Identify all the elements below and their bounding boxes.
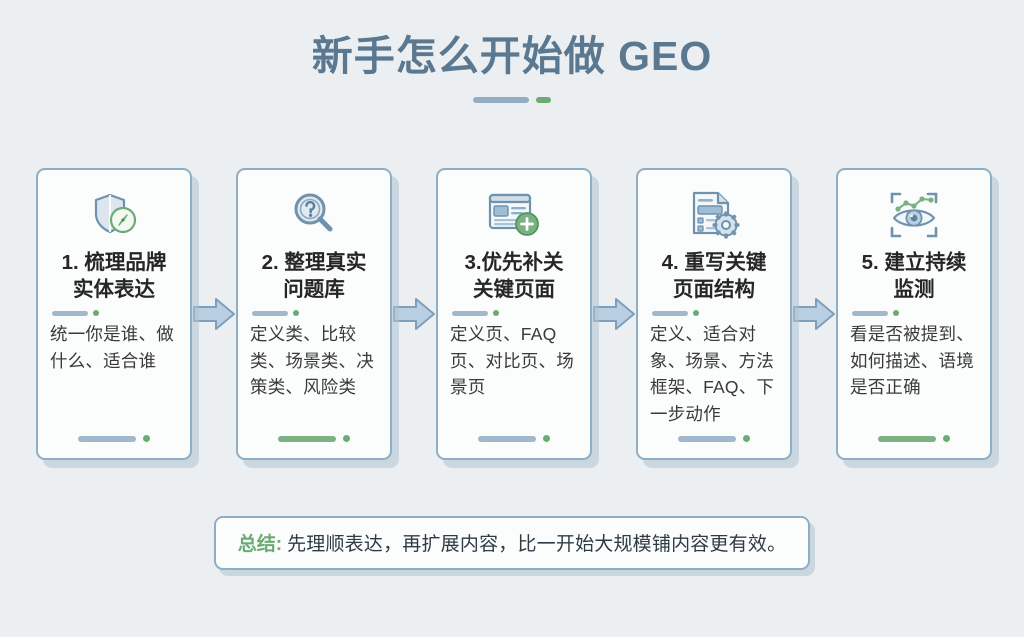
step-card-2[interactable]: 2. 整理真实 问题库 定义类、比较类、场景类、决策类、风险类: [236, 168, 392, 460]
flow-arrow-1: [192, 168, 236, 460]
header: 新手怎么开始做 GEO: [0, 0, 1024, 103]
arrow-right-icon: [192, 296, 236, 332]
step-card-divider: [52, 310, 99, 316]
footer-bar: [678, 436, 736, 442]
step-card-title: 5. 建立持续 监测: [850, 250, 978, 303]
summary-box: 总结: 先理顺表达，再扩展内容，比一开始大规模铺内容更有效。: [214, 516, 811, 570]
divider-bar: [452, 311, 488, 316]
step-card-divider: [852, 310, 899, 316]
flow-arrow-4: [792, 168, 836, 460]
summary-section: 总结: 先理顺表达，再扩展内容，比一开始大规模铺内容更有效。: [0, 516, 1024, 570]
step-card-divider: [252, 310, 299, 316]
divider-bar: [252, 311, 288, 316]
footer-dot: [143, 435, 150, 442]
flow-arrow-2: [392, 168, 436, 460]
divider-bar: [852, 311, 888, 316]
footer-dot: [543, 435, 550, 442]
step-card-divider: [652, 310, 699, 316]
divider-dot: [93, 310, 99, 316]
arrow-right-icon: [592, 296, 636, 332]
document-gear-icon: [686, 184, 742, 246]
step-card-title: 4. 重写关键 页面结构: [650, 250, 778, 303]
title-divider: [0, 97, 1024, 103]
footer-bar: [878, 436, 936, 442]
divider-dot: [493, 310, 499, 316]
step-card-footer: [238, 435, 390, 442]
flow-arrow-3: [592, 168, 636, 460]
summary-text: 先理顺表达，再扩展内容，比一开始大规模铺内容更有效。: [287, 529, 786, 556]
step-card-footer: [438, 435, 590, 442]
step-card-4[interactable]: 4. 重写关键 页面结构 定义、适合对象、场景、方法框架、FAQ、下一步动作: [636, 168, 792, 460]
step-card-footer: [838, 435, 990, 442]
divider-bar: [652, 311, 688, 316]
footer-bar: [278, 436, 336, 442]
step-card-1[interactable]: 1. 梳理品牌 实体表达 统一你是谁、做什么、适合谁: [36, 168, 192, 460]
step-flow: 1. 梳理品牌 实体表达 统一你是谁、做什么、适合谁: [36, 168, 988, 460]
page-title: 新手怎么开始做 GEO: [0, 34, 1024, 79]
infographic-page: 新手怎么开始做 GEO 1. 梳理品牌 实体表达: [0, 0, 1024, 637]
footer-dot: [743, 435, 750, 442]
footer-dot: [943, 435, 950, 442]
arrow-right-icon: [392, 296, 436, 332]
footer-bar: [478, 436, 536, 442]
divider-bar-short: [536, 97, 551, 103]
divider-dot: [293, 310, 299, 316]
divider-bar-long: [473, 97, 529, 103]
summary-label: 总结:: [238, 529, 282, 556]
step-card-divider: [452, 310, 499, 316]
step-card-3[interactable]: 3.优先补关 关键页面 定义页、FAQ页、对比页、场景页: [436, 168, 592, 460]
divider-bar: [52, 311, 88, 316]
step-card-title: 3.优先补关 关键页面: [450, 250, 578, 303]
step-card-5[interactable]: 5. 建立持续 监测 看是否被提到、如何描述、语境是否正确: [836, 168, 992, 460]
step-card-title: 1. 梳理品牌 实体表达: [50, 250, 178, 303]
footer-dot: [343, 435, 350, 442]
step-card-body: 定义页、FAQ页、对比页、场景页: [450, 321, 578, 401]
step-card-title: 2. 整理真实 问题库: [250, 250, 378, 303]
step-card-body: 定义、适合对象、场景、方法框架、FAQ、下一步动作: [650, 321, 778, 427]
step-card-body: 定义类、比较类、场景类、决策类、风险类: [250, 321, 378, 401]
divider-dot: [893, 310, 899, 316]
step-card-body: 统一你是谁、做什么、适合谁: [50, 321, 178, 374]
eye-analytics-icon: [884, 184, 944, 246]
magnifier-question-icon: [286, 184, 342, 246]
footer-bar: [78, 436, 136, 442]
shield-compass-icon: [86, 184, 142, 246]
arrow-right-icon: [792, 296, 836, 332]
webpage-plus-icon: [485, 184, 543, 246]
divider-dot: [693, 310, 699, 316]
step-card-footer: [638, 435, 790, 442]
step-card-body: 看是否被提到、如何描述、语境是否正确: [850, 321, 978, 401]
step-card-footer: [38, 435, 190, 442]
